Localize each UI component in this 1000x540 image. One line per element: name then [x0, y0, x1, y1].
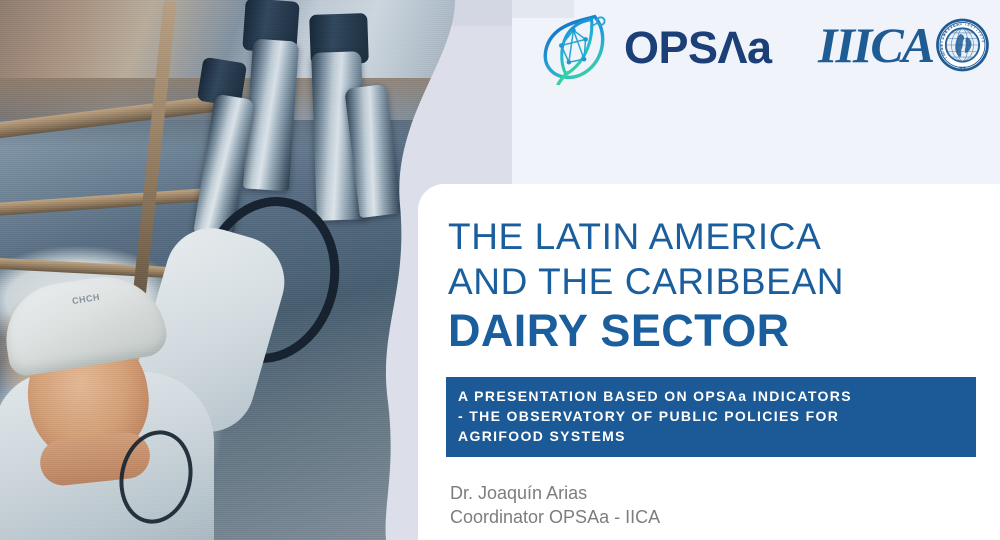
opsaa-leaf-network-icon	[540, 9, 616, 85]
page-title: THE LATIN AMERICA AND THE CARIBBEAN DAIR…	[448, 214, 988, 358]
opsaa-wordmark: OPSΛa	[624, 25, 772, 70]
title-slide: CHCH	[0, 0, 1000, 540]
subtitle-line-2: - THE OBSERVATORY OF PUBLIC POLICIES FOR	[458, 406, 964, 426]
opsaa-logo[interactable]: OPSΛa	[540, 8, 805, 86]
title-line-3: DAIRY SECTOR	[448, 304, 988, 358]
subtitle-line-3: AGRIFOOD SYSTEMS	[458, 426, 964, 446]
author-name: Dr. Joaquín Arias	[450, 481, 660, 505]
iica-globe-seal-icon: I N T E R - A M E R I C A N I N S T I T	[935, 15, 990, 75]
subtitle-band: A PRESENTATION BASED ON OPSAa INDICATORS…	[446, 377, 976, 457]
iica-seal-year: 1942	[959, 66, 966, 70]
title-line-1: THE LATIN AMERICA	[448, 214, 988, 259]
author-role: Coordinator OPSAa - IICA	[450, 505, 660, 529]
svg-text:N: N	[959, 22, 961, 26]
svg-text:U: U	[940, 45, 944, 47]
title-line-2: AND THE CARIBBEAN	[448, 259, 988, 304]
subtitle-line-1: A PRESENTATION BASED ON OPSAa INDICATORS	[458, 386, 964, 406]
iica-wordmark: IIICA	[818, 20, 933, 70]
iica-logo[interactable]: IIICA I N T E R - A	[818, 12, 990, 78]
author-credit: Dr. Joaquín Arias Coordinator OPSAa - II…	[450, 481, 660, 529]
